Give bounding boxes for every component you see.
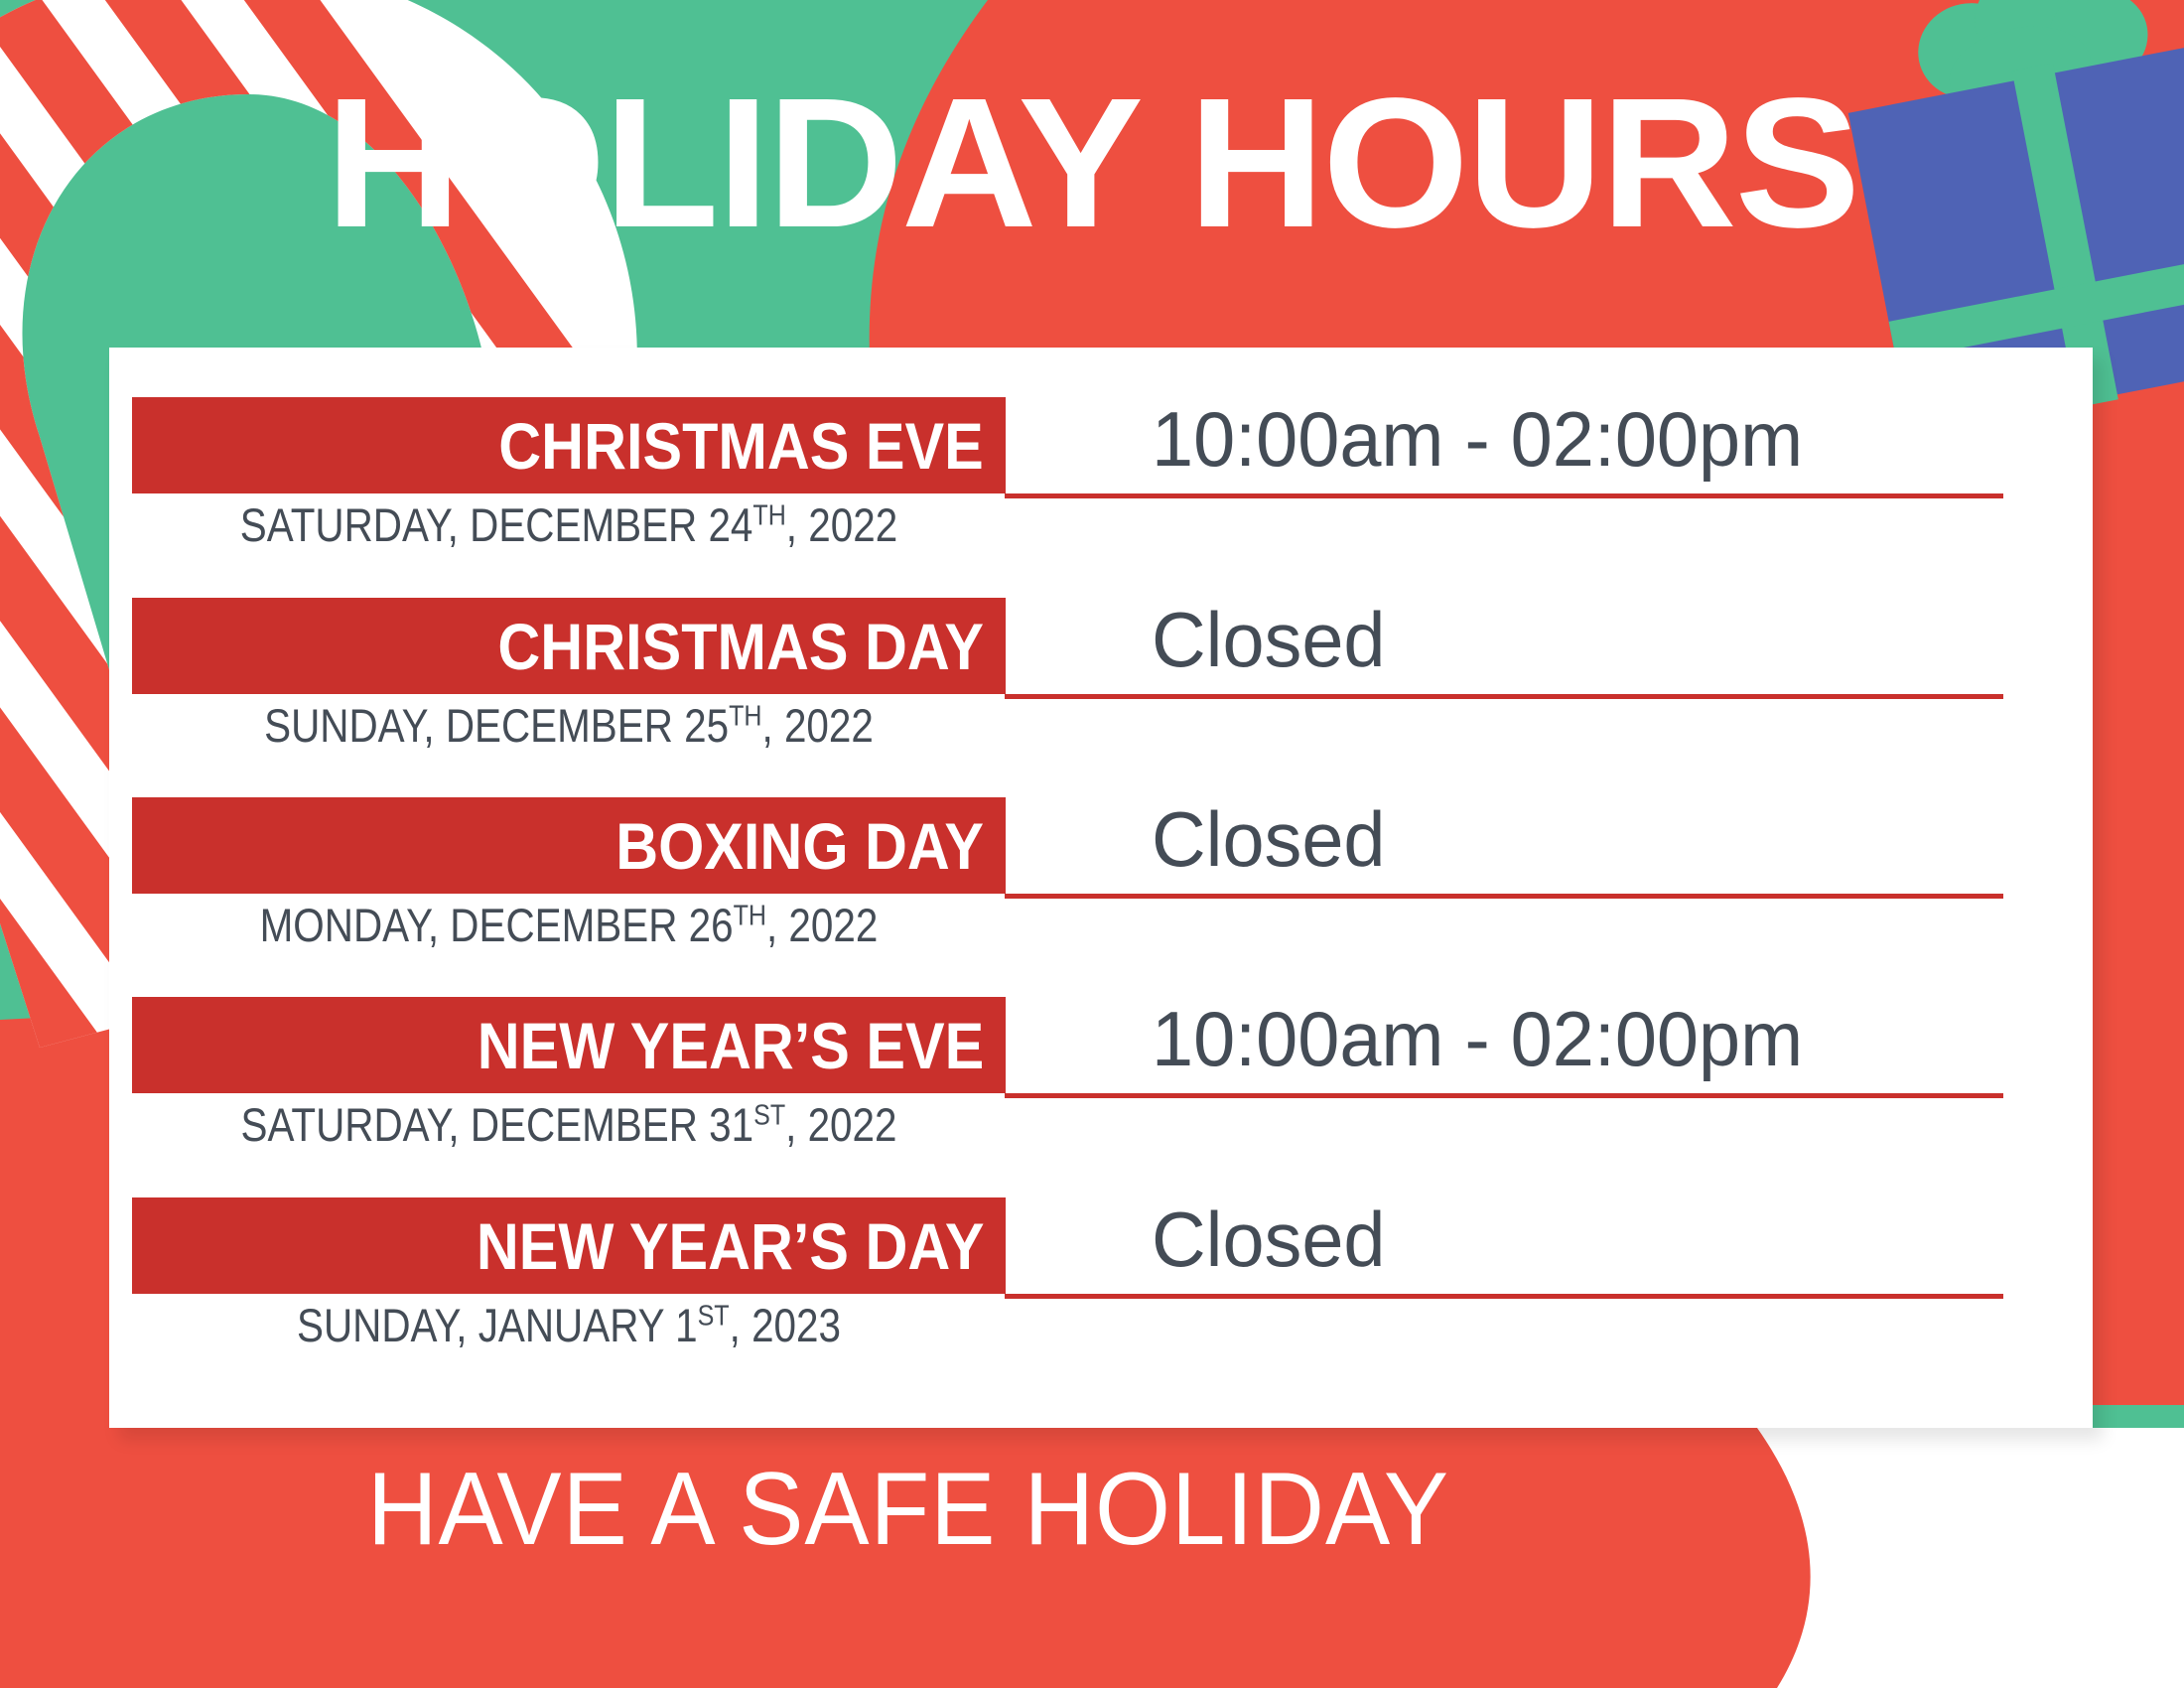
table-row: BOXING DAY MONDAY, DECEMBER 26TH, 2022 C… [109, 797, 2093, 992]
schedule-card: CHRISTMAS EVE SATURDAY, DECEMBER 24TH, 2… [109, 348, 2093, 1428]
hours-underline [1005, 894, 2003, 899]
holiday-date-ordinal: TH [734, 900, 766, 931]
holiday-date-year: , 2023 [730, 1299, 841, 1351]
holiday-date-weekday: SATURDAY, DECEMBER 31 [240, 1098, 753, 1151]
footer-message: HAVE A SAFE HOLIDAY [55, 1458, 1762, 1561]
table-row: NEW YEAR’S EVE SATURDAY, DECEMBER 31ST, … [109, 997, 2093, 1192]
holiday-label-chip: NEW YEAR’S EVE [132, 997, 1006, 1093]
holiday-date-ordinal: TH [752, 499, 785, 531]
holiday-date-weekday: SUNDAY, DECEMBER 25 [264, 699, 729, 752]
holiday-date-year: , 2022 [766, 899, 878, 951]
holiday-date: SUNDAY, DECEMBER 25TH, 2022 [194, 697, 945, 756]
holiday-label-chip: BOXING DAY [132, 797, 1006, 894]
holiday-label-chip: NEW YEAR’S DAY [132, 1197, 1006, 1294]
holiday-date: SATURDAY, DECEMBER 24TH, 2022 [194, 496, 945, 555]
holiday-hours: 10:00am - 02:00pm [1152, 391, 2026, 489]
holiday-date-year: , 2022 [785, 1098, 896, 1151]
holiday-date-ordinal: ST [753, 1099, 785, 1131]
table-row: CHRISTMAS DAY SUNDAY, DECEMBER 25TH, 202… [109, 598, 2093, 792]
hours-underline [1005, 1093, 2003, 1098]
holiday-date: SUNDAY, JANUARY 1ST, 2023 [194, 1297, 945, 1355]
holiday-label-chip: CHRISTMAS EVE [132, 397, 1006, 493]
table-row: NEW YEAR’S DAY SUNDAY, JANUARY 1ST, 2023… [109, 1197, 2093, 1392]
holiday-date-weekday: SATURDAY, DECEMBER 24 [240, 498, 753, 551]
holiday-date: MONDAY, DECEMBER 26TH, 2022 [194, 897, 945, 955]
holiday-label-chip: CHRISTMAS DAY [132, 598, 1006, 694]
holiday-label: BOXING DAY [615, 813, 984, 879]
holiday-hours: Closed [1152, 592, 2026, 689]
holiday-date-ordinal: TH [729, 700, 761, 732]
holiday-date: SATURDAY, DECEMBER 31ST, 2022 [194, 1096, 945, 1155]
holiday-date-ordinal: ST [698, 1300, 730, 1332]
holiday-date-year: , 2022 [786, 498, 897, 551]
hours-underline [1005, 493, 2003, 498]
table-row: CHRISTMAS EVE SATURDAY, DECEMBER 24TH, 2… [109, 397, 2093, 592]
hours-underline [1005, 1294, 2003, 1299]
hours-underline [1005, 694, 2003, 699]
holiday-date-weekday: SUNDAY, JANUARY 1 [297, 1299, 698, 1351]
holiday-hours-poster: HOLIDAY HOURS CHRISTMAS EVE SATURDAY, DE… [0, 0, 2184, 1688]
page-title: HOLIDAY HOURS [0, 71, 2184, 256]
holiday-label: NEW YEAR’S EVE [477, 1013, 984, 1078]
holiday-date-weekday: MONDAY, DECEMBER 26 [260, 899, 734, 951]
holiday-hours: 10:00am - 02:00pm [1152, 991, 2026, 1088]
holiday-label: CHRISTMAS EVE [499, 413, 984, 479]
holiday-label: NEW YEAR’S DAY [476, 1213, 984, 1279]
holiday-label: CHRISTMAS DAY [497, 614, 984, 679]
holiday-hours: Closed [1152, 1192, 2026, 1289]
holiday-hours: Closed [1152, 791, 2026, 889]
holiday-date-year: , 2022 [761, 699, 873, 752]
